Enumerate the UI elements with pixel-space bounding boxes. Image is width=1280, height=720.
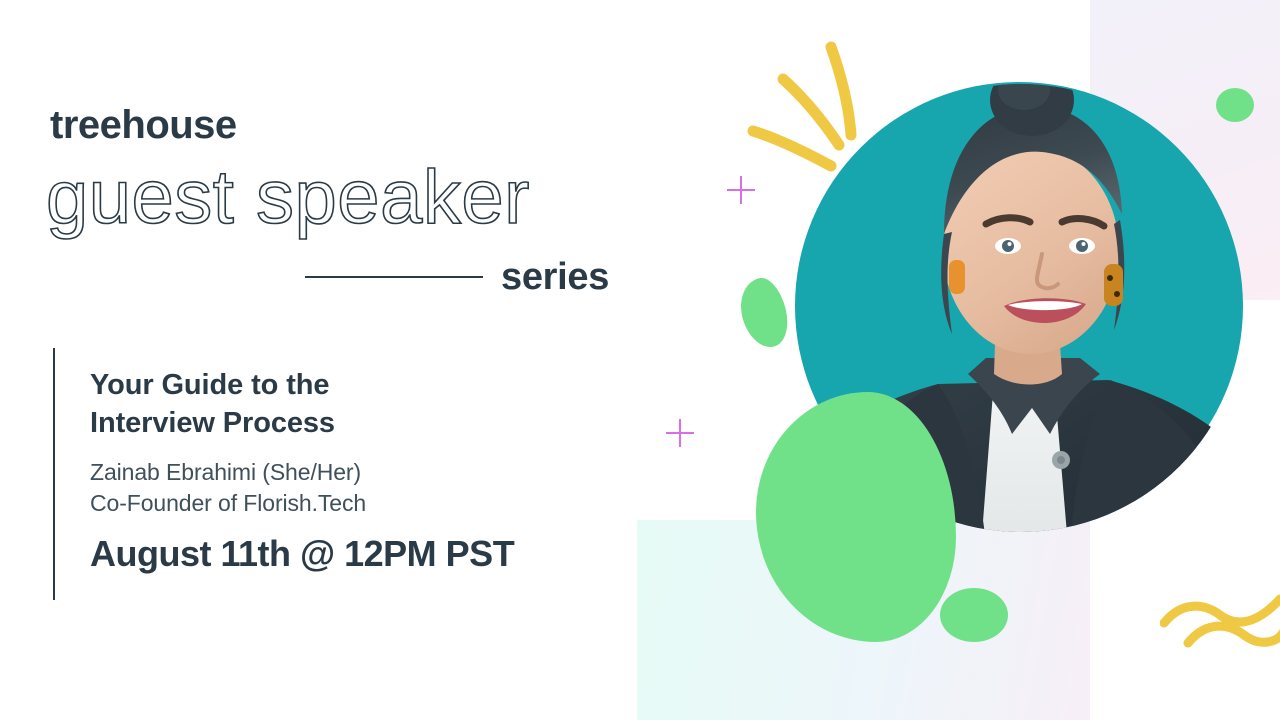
event-datetime: August 11th @ 12PM PST — [90, 534, 630, 574]
speaker-role: Co-Founder of Florish.Tech — [90, 488, 630, 520]
vertical-accent-rule — [53, 348, 55, 600]
series-label: series — [501, 258, 609, 296]
green-dot-bottom-icon — [940, 588, 1008, 642]
talk-title: Your Guide to the Interview Process — [90, 366, 630, 443]
series-row: series — [305, 258, 635, 296]
green-blob-small-icon — [734, 274, 794, 353]
talk-details: Your Guide to the Interview Process Zain… — [90, 366, 630, 574]
speaker-name: Zainab Ebrahimi (She/Her) — [90, 457, 630, 489]
headline-outline-text: guest speaker — [46, 160, 530, 236]
brand-wordmark: treehouse — [50, 105, 237, 145]
text-column: treehouse guest speaker series Your Guid… — [0, 0, 660, 720]
talk-title-line-2: Interview Process — [90, 404, 630, 442]
promo-slide: treehouse guest speaker series Your Guid… — [0, 0, 1280, 720]
plus-mark-upper-icon — [727, 176, 755, 204]
plus-mark-lower-icon — [666, 419, 694, 447]
green-dot-right-icon — [1216, 88, 1254, 122]
talk-title-line-1: Your Guide to the — [90, 366, 630, 404]
series-divider-rule — [305, 276, 483, 278]
